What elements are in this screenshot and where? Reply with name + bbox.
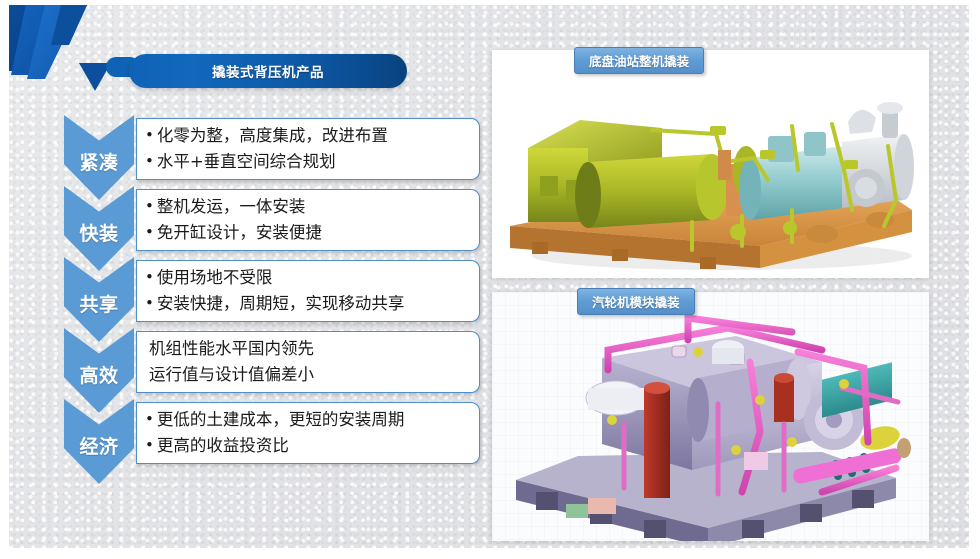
caption-text: 底盘油站整机撬装 — [589, 51, 689, 70]
feature-line: 整机发运，一体安装 — [145, 194, 473, 220]
feature-line: 化零为整，高度集成，改进布置 — [145, 123, 473, 149]
slide-canvas: 撬装式背压机产品 紧凑 化零为整，高度集成，改进布置 水平+垂直空间综合规划 快… — [0, 0, 980, 559]
feature-row: 紧凑 化零为整，高度集成，改进布置 水平+垂直空间综合规划 — [64, 115, 484, 186]
feature-tag: 共享 — [79, 290, 118, 317]
product-image-turbine-module — [492, 292, 929, 541]
feature-line: 机组性能水平国内领先 — [145, 336, 473, 362]
photo-caption-turbine: 汽轮机模块撬装 — [577, 288, 695, 315]
feature-line: 运行值与设计值偏差小 — [145, 362, 473, 388]
feature-line: 水平+垂直空间综合规划 — [145, 149, 473, 175]
slide-title-banner: 撬装式背压机产品 — [129, 54, 407, 88]
product-image-chassis-skid — [492, 50, 929, 278]
feature-text-box: 整机发运，一体安装 免开缸设计，安装便捷 — [136, 189, 480, 251]
page-title: 撬装式背压机产品 — [212, 61, 324, 81]
feature-text-box: 化零为整，高度集成，改进布置 水平+垂直空间综合规划 — [136, 118, 480, 180]
feature-row: 经济 更低的土建成本，更短的安装周期 更高的收益投资比 — [64, 399, 484, 470]
photo-caption-chassis: 底盘油站整机撬装 — [574, 47, 704, 74]
feature-tag: 快装 — [79, 219, 118, 246]
feature-line: 免开缸设计，安装便捷 — [145, 220, 473, 246]
feature-line: 安装快捷，周期短，实现移动共享 — [145, 291, 473, 317]
feature-list: 紧凑 化零为整，高度集成，改进布置 水平+垂直空间综合规划 快装 整机发运，一体… — [64, 115, 484, 470]
feature-text-box: 使用场地不受限 安装快捷，周期短，实现移动共享 — [136, 260, 480, 322]
feature-text-box: 更低的土建成本，更短的安装周期 更高的收益投资比 — [136, 402, 480, 464]
caption-text: 汽轮机模块撬装 — [592, 292, 680, 311]
feature-row: 快装 整机发运，一体安装 免开缸设计，安装便捷 — [64, 186, 484, 257]
feature-tag: 紧凑 — [79, 148, 118, 175]
company-logo — [9, 5, 147, 99]
feature-row: 高效 机组性能水平国内领先 运行值与设计值偏差小 — [64, 328, 484, 399]
feature-line: 更低的土建成本，更短的安装周期 — [145, 407, 473, 433]
feature-tag: 经济 — [79, 432, 118, 459]
feature-row: 共享 使用场地不受限 安装快捷，周期短，实现移动共享 — [64, 257, 484, 328]
feature-line: 更高的收益投资比 — [145, 433, 473, 459]
feature-text-box: 机组性能水平国内领先 运行值与设计值偏差小 — [136, 331, 480, 393]
feature-tag: 高效 — [79, 361, 118, 388]
feature-line: 使用场地不受限 — [145, 265, 473, 291]
